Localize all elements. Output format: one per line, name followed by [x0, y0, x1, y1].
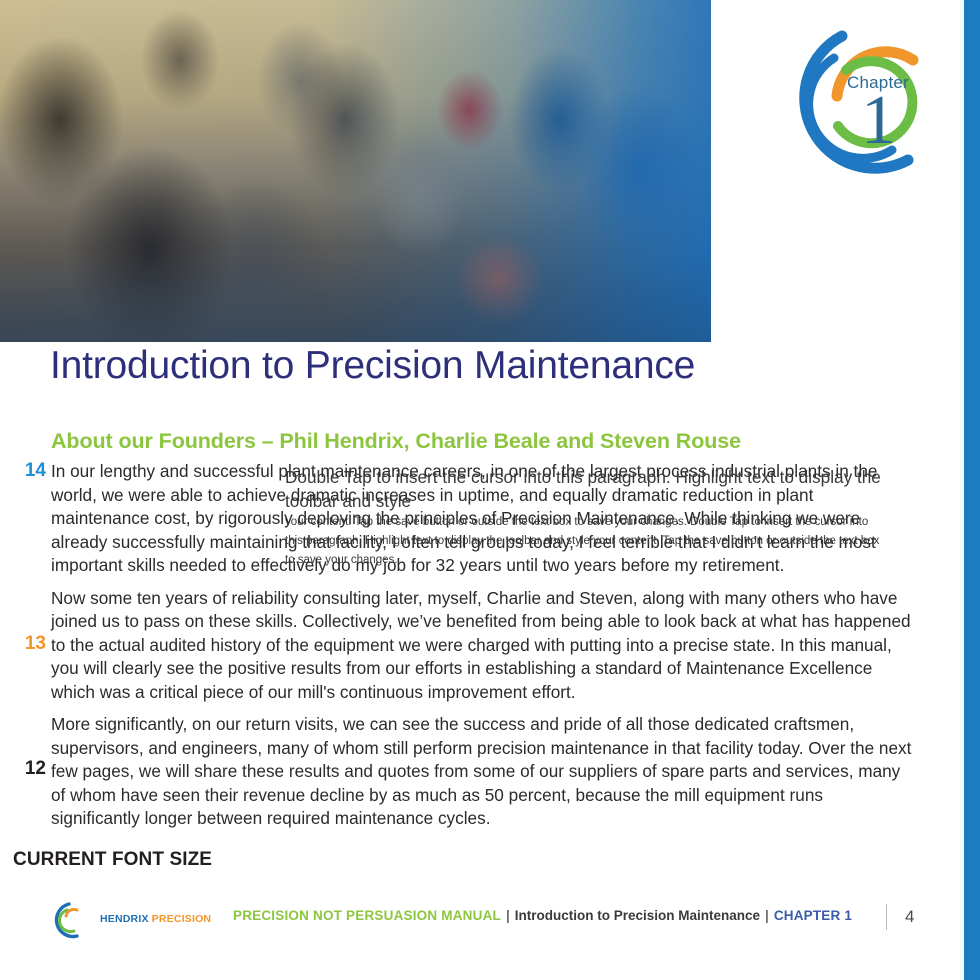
page-title: Introduction to Precision Maintenance [50, 344, 695, 388]
paragraph-line-number: 12 [12, 758, 46, 780]
paragraph-text[interactable]: In our lengthy and successful plant main… [51, 460, 915, 578]
paragraph-block[interactable]: 13 Now some ten years of reliability con… [0, 587, 940, 705]
page-number: 4 [905, 907, 914, 927]
footer-separator: | [506, 908, 510, 923]
hendrix-precision-logo: HENDRIXPRECISION [47, 899, 172, 941]
paragraph-line-number: 14 [12, 460, 46, 482]
paragraph-line-number: 13 [12, 633, 46, 655]
page-canvas: Chapter 1 Introduction to Precision Main… [0, 0, 980, 980]
current-font-size-label: CURRENT FONT SIZE [13, 849, 212, 871]
right-edge-accent-bar [964, 0, 980, 980]
photo-bottom-fade [0, 252, 711, 342]
footer-separator: | [765, 908, 769, 923]
logo-brand-secondary: PRECISION [152, 913, 212, 925]
paragraph-block[interactable]: 14 In our lengthy and successful plant m… [0, 460, 940, 578]
hero-photo-banner [0, 0, 711, 342]
chapter-number: 1 [861, 86, 896, 156]
footer-section-title: Introduction to Precision Maintenance [515, 908, 760, 923]
logo-brand-primary: HENDRIX [100, 913, 149, 925]
logo-arc-icon [47, 899, 107, 941]
footer-divider [886, 904, 887, 930]
body-content: 14 In our lengthy and successful plant m… [0, 460, 940, 840]
section-heading: About our Founders – Phil Hendrix, Charl… [51, 429, 741, 454]
chapter-badge: Chapter 1 [780, 18, 950, 178]
logo-wordmark: HENDRIXPRECISION [100, 913, 211, 925]
page-footer: HENDRIXPRECISION PRECISION NOT PERSUASIO… [0, 892, 960, 980]
paragraph-text[interactable]: Now some ten years of reliability consul… [51, 587, 915, 705]
footer-manual-title: PRECISION NOT PERSUASION MANUAL [233, 908, 501, 923]
paragraph-text[interactable]: More significantly, on our return visits… [51, 713, 915, 831]
footer-breadcrumb: PRECISION NOT PERSUASION MANUAL|Introduc… [233, 908, 852, 923]
footer-chapter-label: CHAPTER 1 [774, 908, 852, 923]
paragraph-block[interactable]: 12 More significantly, on our return vis… [0, 713, 940, 831]
